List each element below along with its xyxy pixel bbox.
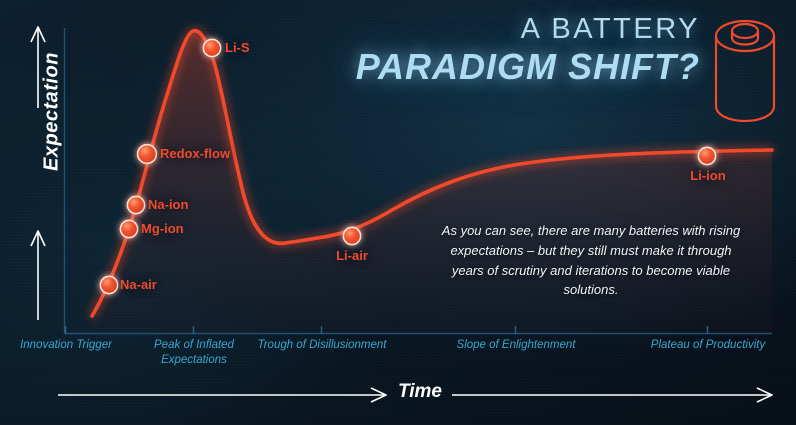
phase-label-plateau-of-productivity: Plateau of Productivity xyxy=(643,338,773,353)
data-point-mg-ion[interactable] xyxy=(120,220,137,237)
infographic-canvas: A BATTERY PARADIGM SHIFT? Expectation Ti… xyxy=(0,0,796,425)
data-point-na-air[interactable] xyxy=(100,276,117,293)
headline-block: A BATTERY PARADIGM SHIFT? xyxy=(356,14,700,88)
headline-line-2: PARADIGM SHIFT? xyxy=(356,47,700,87)
data-point-na-ion[interactable] xyxy=(127,196,144,213)
data-point-li-air[interactable] xyxy=(343,227,360,244)
explanatory-note: As you can see, there are many batteries… xyxy=(440,221,742,300)
headline-line-1: A BATTERY xyxy=(356,14,700,45)
phase-label-peak-of-inflated-expectations: Peak of Inflated Expectations xyxy=(129,338,259,369)
x-axis-title: Time xyxy=(398,381,442,403)
data-point-redox-flow[interactable] xyxy=(138,145,157,164)
point-label-na-air: Na-air xyxy=(120,277,157,292)
phase-label-trough-of-disillusionment: Trough of Disillusionment xyxy=(257,338,387,353)
point-label-li-air: Li-air xyxy=(336,248,368,263)
data-point-li-s[interactable] xyxy=(203,39,220,56)
phase-label-innovation-trigger: Innovation Trigger xyxy=(1,338,131,353)
point-label-redox-flow: Redox-flow xyxy=(160,146,230,161)
data-point-li-ion[interactable] xyxy=(698,147,715,164)
point-label-li-ion: Li-ion xyxy=(690,168,725,183)
point-label-na-ion: Na-ion xyxy=(148,197,188,212)
point-label-li-s: Li-S xyxy=(225,40,250,55)
battery-cylinder-icon xyxy=(702,10,788,128)
y-axis-title: Expectation xyxy=(41,32,64,192)
point-label-mg-ion: Mg-ion xyxy=(141,221,184,236)
phase-label-slope-of-enlightenment: Slope of Enlightenment xyxy=(451,338,581,353)
